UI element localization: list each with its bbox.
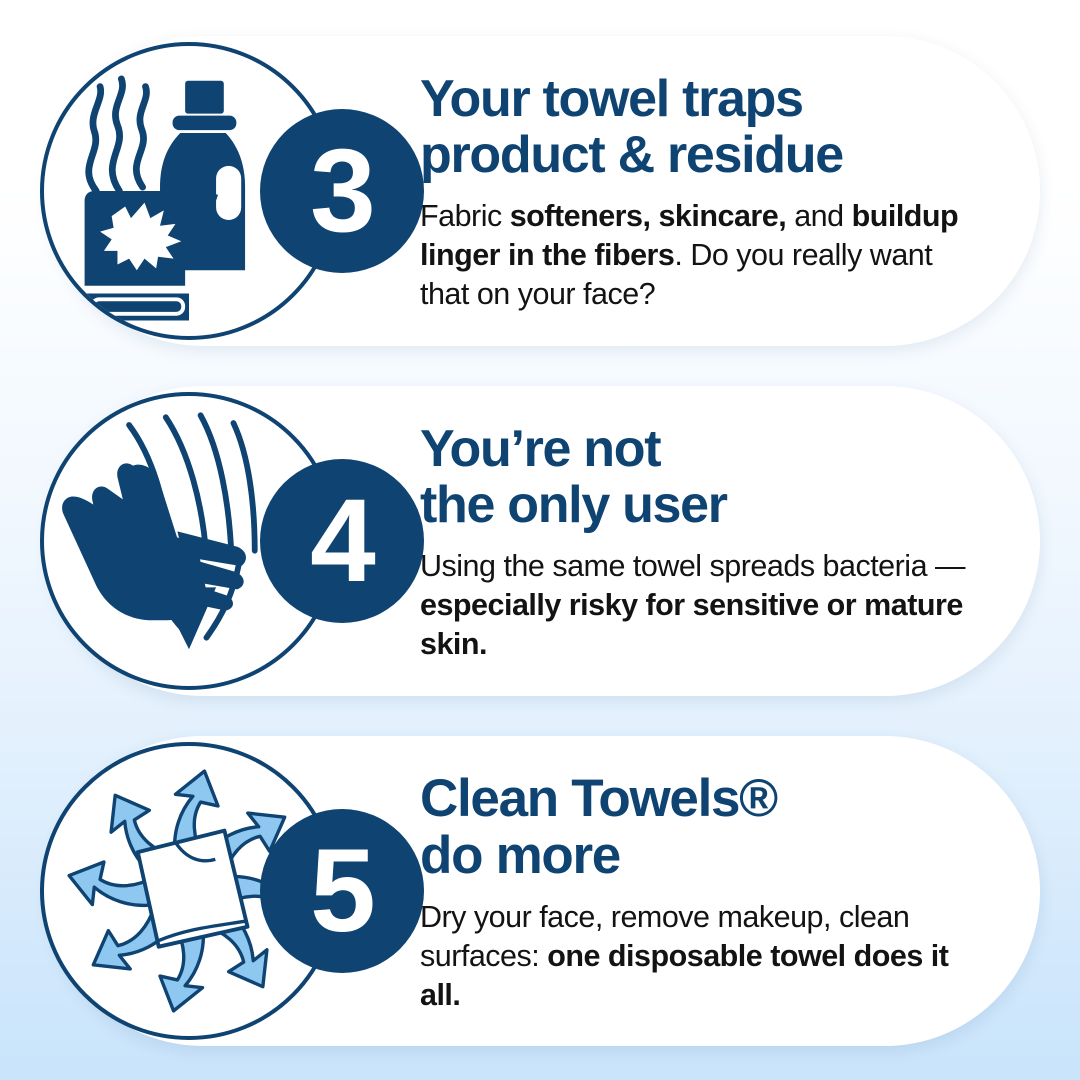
card-body: Using the same towel spreads bacteria —e…: [420, 547, 986, 664]
icon-zone-4: 4: [48, 386, 420, 696]
card-body: Dry your face, remove makeup, clean surf…: [420, 898, 986, 1015]
infographic-board: 3 Your towel traps product & residue Fab…: [0, 0, 1080, 1080]
card-headline: Clean Towels® do more: [420, 771, 986, 884]
card-headline: You’re not the only user: [420, 422, 986, 533]
step-number-badge: 5: [260, 809, 424, 973]
icon-zone-3: 3: [48, 36, 420, 346]
info-card-5: 5 Clean Towels® do more Dry your face, r…: [48, 736, 1040, 1046]
card-body: Fabric softeners, skincare, and buildup …: [420, 197, 986, 314]
text-zone-3: Your towel traps product & residue Fabri…: [420, 68, 1040, 313]
step-number-badge: 3: [260, 109, 424, 273]
info-card-4: 4 You’re not the only user Using the sam…: [48, 386, 1040, 696]
info-card-3: 3 Your towel traps product & residue Fab…: [48, 36, 1040, 346]
step-number-badge: 4: [260, 459, 424, 623]
icon-zone-5: 5: [48, 736, 420, 1046]
text-zone-5: Clean Towels® do more Dry your face, rem…: [420, 767, 1040, 1015]
text-zone-4: You’re not the only user Using the same …: [420, 418, 1040, 663]
card-headline: Your towel traps product & residue: [420, 72, 986, 183]
